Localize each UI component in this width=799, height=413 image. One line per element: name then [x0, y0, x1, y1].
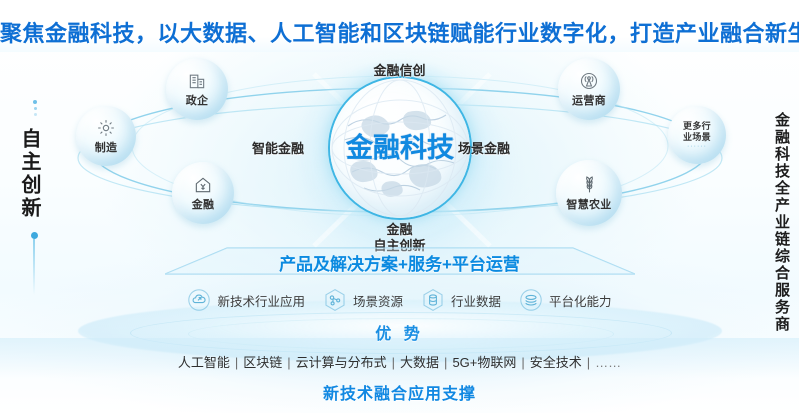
- globe-bottom-line1: 金融: [0, 222, 799, 238]
- bubble-more-industries[interactable]: 更多行 业场景 ······: [668, 106, 726, 164]
- technology-list: 人工智能|区块链|云计算与分布式|大数据|5G+物联网|安全技术|……: [0, 352, 799, 371]
- capability-item[interactable]: 行业数据: [421, 288, 501, 312]
- tech-item: 人工智能: [178, 355, 230, 370]
- bubble-smart-agriculture[interactable]: 智慧农业: [556, 160, 622, 226]
- cloud-arrow-icon: [187, 288, 211, 312]
- bubble-finance[interactable]: 金融: [172, 162, 234, 224]
- bubble-manufacturing[interactable]: 制造: [76, 106, 136, 166]
- capability-label: 新技术行业应用: [217, 291, 305, 310]
- wheat-icon: [579, 174, 600, 195]
- database-icon: [421, 288, 445, 312]
- capability-label: 行业数据: [451, 291, 501, 310]
- product-heading: 产品及解决方案+服务+平台运营: [0, 250, 799, 275]
- separator: |: [235, 355, 238, 370]
- capability-item[interactable]: 平台化能力: [519, 288, 612, 312]
- globe-top-label: 金融信创: [0, 60, 799, 79]
- gear-icon: [96, 118, 116, 138]
- separator: |: [521, 355, 524, 370]
- building-icon: [187, 71, 207, 91]
- tech-item: 云计算与分布式: [296, 355, 387, 370]
- tech-item: 区块链: [243, 355, 282, 370]
- capability-label: 场景资源: [353, 291, 403, 310]
- bubble-operator[interactable]: 运营商: [558, 58, 620, 120]
- bank-house-icon: [193, 175, 213, 195]
- bubble-label: 运营商: [572, 92, 606, 108]
- capability-item[interactable]: 新技术行业应用: [187, 288, 305, 312]
- tech-item: 5G+物联网: [452, 355, 516, 370]
- network-node-icon: [323, 288, 347, 312]
- globe-right-label: 场景金融: [458, 138, 510, 157]
- separator: |: [444, 355, 447, 370]
- tech-item: 安全技术: [530, 355, 582, 370]
- bubble-label-line2: 业场景: [683, 132, 711, 142]
- bubble-label: 金融: [192, 196, 215, 212]
- antenna-icon: [579, 71, 599, 91]
- globe-left-label: 智能金融: [252, 138, 304, 157]
- tech-item: 大数据: [400, 355, 439, 370]
- support-heading: 新技术融合应用支撑: [0, 380, 799, 404]
- tech-item-ellipsis: ……: [595, 355, 621, 370]
- bubble-ellipsis: ······: [687, 143, 707, 150]
- bubble-label: 制造: [95, 139, 118, 155]
- infographic-canvas: 聚焦金融科技，以大数据、人工智能和区块链赋能行业数字化，打造产业融合新生态 自主…: [0, 0, 799, 413]
- separator: |: [287, 355, 290, 370]
- capability-row: 新技术行业应用 场景资源 行业数据: [0, 288, 799, 312]
- layers-icon: [519, 288, 543, 312]
- capability-item[interactable]: 场景资源: [323, 288, 403, 312]
- separator: |: [392, 355, 395, 370]
- globe-center-label: 金融科技: [330, 126, 470, 165]
- bubble-label: 政企: [186, 92, 209, 108]
- advantage-heading: 优 势: [0, 320, 799, 344]
- separator: |: [587, 355, 590, 370]
- capability-label: 平台化能力: [549, 291, 612, 310]
- bubble-government-enterprise[interactable]: 政企: [166, 58, 228, 120]
- bubble-label-line1: 更多行: [683, 121, 711, 131]
- bubble-label: 智慧农业: [566, 196, 611, 212]
